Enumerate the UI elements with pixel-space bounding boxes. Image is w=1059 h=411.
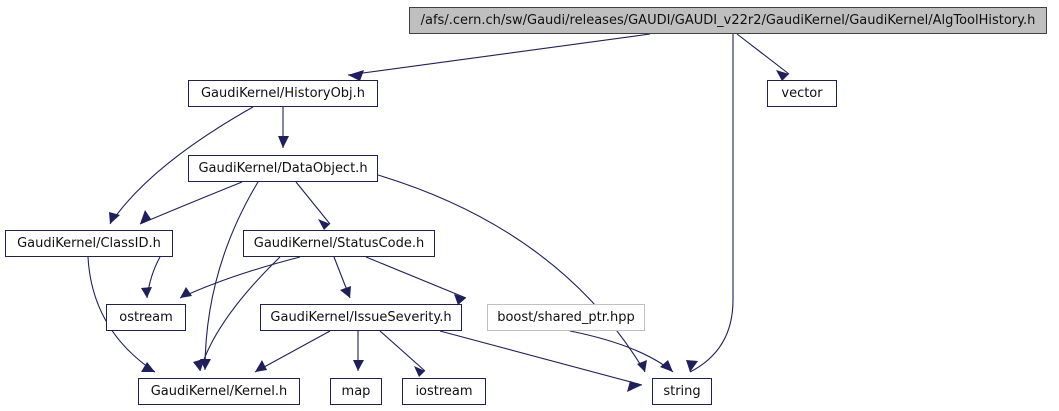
edge-root-to-vector (737, 34, 789, 81)
graph-node-label: GaudiKernel/DataObject.h (198, 162, 367, 175)
edge-classid2-to-ostream (141, 257, 160, 298)
graph-node-label: boost/shared_ptr.hpp (497, 311, 635, 324)
edge-line (205, 182, 258, 370)
arrowhead-icon (180, 287, 192, 298)
graph-node-string[interactable]: string (652, 378, 712, 405)
edge-statuscode-to-issueseverity (334, 257, 351, 298)
edge-statuscode-to-ostream (180, 257, 300, 298)
graph-node-label: GaudiKernel/StatusCode.h (254, 237, 424, 250)
arrowhead-icon (660, 360, 673, 372)
graph-node-vector[interactable]: vector (767, 80, 837, 107)
arrowhead-icon (686, 360, 698, 372)
edge-dataobject-to-string (378, 175, 647, 372)
edge-line (255, 331, 330, 372)
edge-dataobject-to-kernel (200, 182, 258, 370)
arrowhead-icon (278, 136, 289, 148)
graph-node-iostream[interactable]: iostream (402, 378, 486, 405)
graph-node-kernel[interactable]: GaudiKernel/Kernel.h (138, 378, 300, 405)
include-dependency-graph: /afs/.cern.ch/sw/Gaudi/releases/GAUDI/GA… (0, 0, 1059, 411)
edge-dataobject-to-classid (140, 182, 242, 224)
arrowhead-icon (109, 212, 120, 224)
edge-historyobj-to-dataobject (278, 107, 289, 148)
graph-node-label: vector (781, 87, 822, 100)
graph-node-label: map (342, 385, 371, 398)
edge-line (440, 331, 642, 385)
edge-line (140, 182, 242, 224)
graph-edges-layer (0, 0, 1059, 411)
edge-line (366, 257, 466, 298)
edge-statuscode-to-sharedptr (366, 257, 466, 305)
edge-issueseverity-to-kernel (255, 331, 330, 372)
graph-node-label: GaudiKernel/Kernel.h (151, 385, 288, 398)
graph-node-map[interactable]: map (330, 378, 382, 405)
edge-root-to-string (686, 34, 733, 372)
graph-node-label: GaudiKernel/ClassID.h (17, 237, 161, 250)
graph-node-label: string (663, 385, 700, 398)
edge-line (378, 175, 645, 372)
arrowhead-icon (414, 366, 425, 377)
edge-root-to-historyobj (348, 34, 650, 81)
arrowhead-icon (141, 287, 152, 298)
edge-line (737, 34, 789, 74)
graph-node-classid[interactable]: GaudiKernel/ClassID.h (5, 230, 173, 257)
edge-line (348, 34, 650, 75)
arrowhead-icon (353, 360, 364, 371)
edge-issueseverity-to-iostream (380, 331, 425, 377)
arrowhead-icon (627, 381, 642, 392)
graph-node-ostream[interactable]: ostream (106, 304, 186, 331)
graph-node-root[interactable]: /afs/.cern.ch/sw/Gaudi/releases/GAUDI/GA… (409, 7, 1047, 34)
edge-dataobject-to-statuscode (296, 182, 330, 230)
arrowhead-icon (193, 359, 203, 371)
graph-node-label: GaudiKernel/HistoryObj.h (201, 87, 365, 100)
edge-issueseverity-to-map (353, 331, 364, 371)
graph-node-dataobject[interactable]: GaudiKernel/DataObject.h (188, 155, 378, 182)
edge-line (180, 257, 300, 298)
arrowhead-icon (318, 219, 330, 230)
edge-line (690, 34, 733, 372)
graph-node-label: iostream (415, 385, 472, 398)
graph-node-label: /afs/.cern.ch/sw/Gaudi/releases/GAUDI/GA… (421, 14, 1036, 27)
graph-node-sharedptr[interactable]: boost/shared_ptr.hpp (487, 304, 645, 331)
graph-node-issueseverity[interactable]: GaudiKernel/IssueSeverity.h (260, 304, 462, 331)
edge-line (296, 182, 330, 224)
graph-node-historyobj[interactable]: GaudiKernel/HistoryObj.h (188, 80, 378, 107)
graph-node-label: ostream (119, 311, 173, 324)
graph-node-statuscode[interactable]: GaudiKernel/StatusCode.h (243, 230, 435, 257)
graph-node-label: GaudiKernel/IssueSeverity.h (270, 311, 451, 324)
edge-line (380, 331, 425, 371)
